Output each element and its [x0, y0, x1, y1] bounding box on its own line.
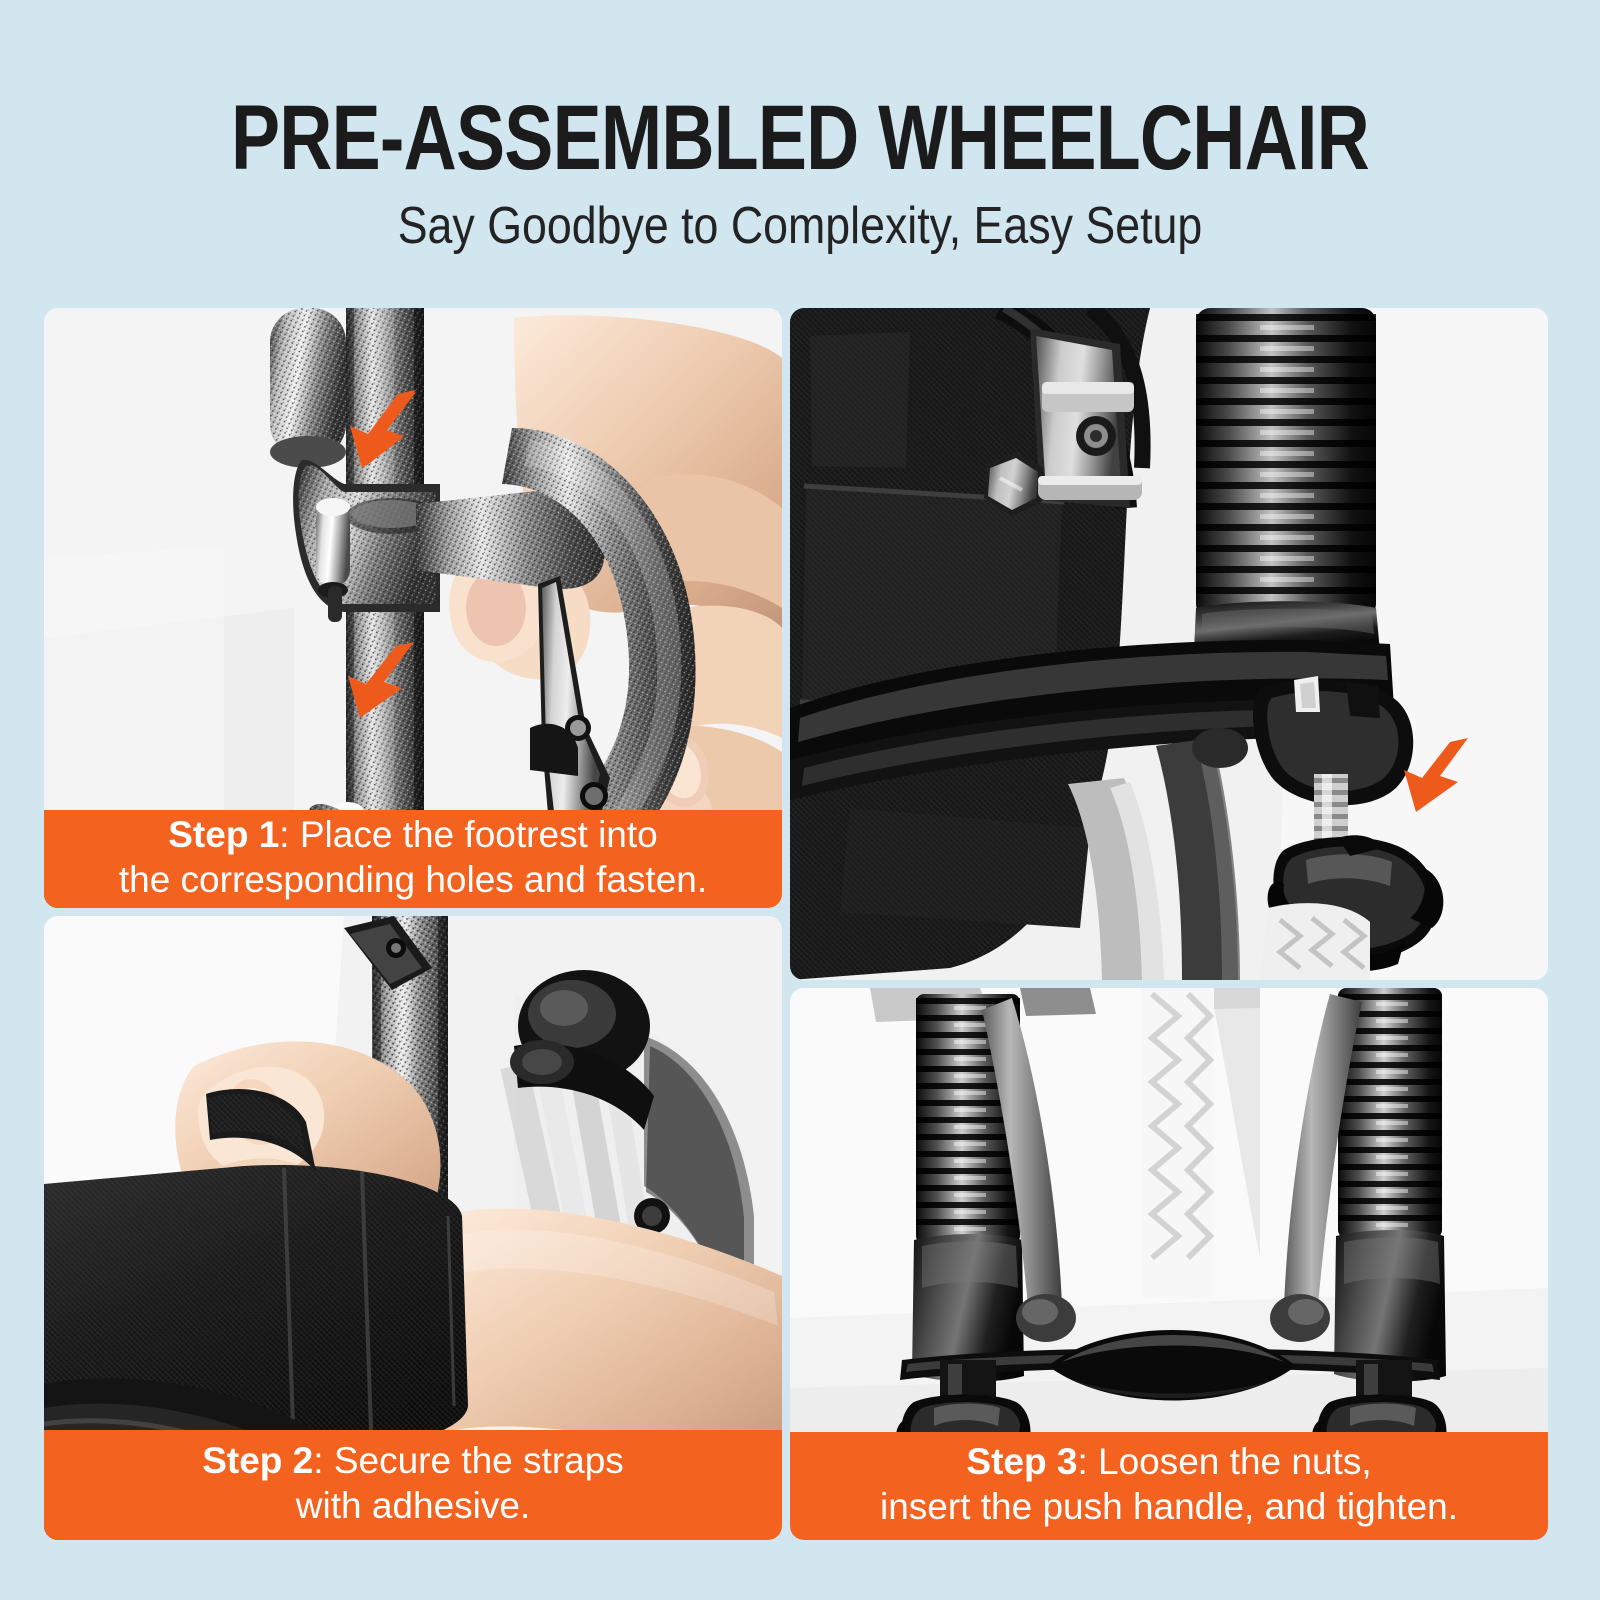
- step-2-separator: :: [313, 1440, 334, 1481]
- step-panel-3: [790, 308, 1548, 980]
- step-panel-4: Step 3: Loosen the nuts, insert the push…: [790, 988, 1548, 1540]
- step-2-label: Step 2: [202, 1440, 313, 1481]
- step-2-text-line1: Secure the straps: [334, 1440, 624, 1481]
- step-2-caption: Step 2: Secure the straps with adhesive.: [44, 1430, 782, 1540]
- step-1-label: Step 1: [168, 814, 279, 855]
- step-3-text-line2: insert the push handle, and tighten.: [880, 1484, 1458, 1529]
- step-3-caption: Step 3: Loosen the nuts, insert the push…: [790, 1432, 1548, 1540]
- header: PRE-ASSEMBLED WHEELCHAIR Say Goodbye to …: [0, 0, 1600, 300]
- step-1-text-line1: Place the footrest into: [300, 814, 658, 855]
- step-panel-1: Step 1: Place the footrest into the corr…: [44, 308, 782, 908]
- step-1-separator: :: [279, 814, 300, 855]
- page-title: PRE-ASSEMBLED WHEELCHAIR: [160, 92, 1440, 184]
- orange-arrow-down-left-upper: [342, 386, 422, 472]
- step-3-label: Step 3: [966, 1441, 1077, 1482]
- step-3-text-line1: Loosen the nuts,: [1098, 1441, 1372, 1482]
- step-3-separator: :: [1077, 1441, 1098, 1482]
- orange-arrow-down-left-lower: [342, 638, 420, 720]
- orange-arrow-down-left-knob: [1398, 732, 1476, 816]
- step-panel-2: Step 2: Secure the straps with adhesive.: [44, 916, 782, 1540]
- step-3-detail-photo: [790, 308, 1548, 980]
- step-1-caption: Step 1: Place the footrest into the corr…: [44, 810, 782, 908]
- step-2-text-line2: with adhesive.: [296, 1483, 530, 1528]
- step-1-text-line2: the corresponding holes and fasten.: [119, 857, 707, 902]
- page-subtitle: Say Goodbye to Complexity, Easy Setup: [112, 200, 1488, 252]
